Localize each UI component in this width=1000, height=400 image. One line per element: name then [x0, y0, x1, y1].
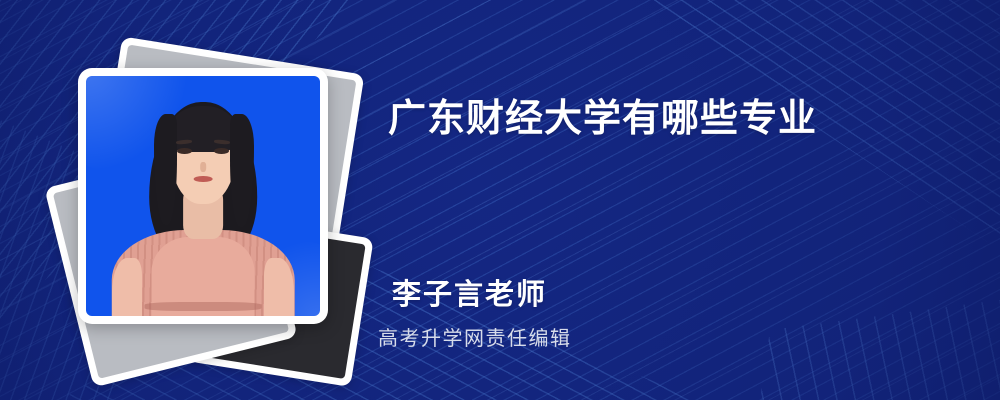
portrait-hair-strand-left [154, 114, 177, 224]
photo-card-stack [48, 40, 378, 360]
banner-text-column: 广东财经大学有哪些专业 李子言老师 高考升学网责任编辑 [382, 0, 962, 400]
author-name: 李子言老师 [392, 271, 547, 313]
portrait-arm-left [112, 258, 142, 316]
portrait-nose [200, 162, 206, 172]
article-header-banner: 广东财经大学有哪些专业 李子言老师 高考升学网责任编辑 [0, 0, 1000, 400]
page-title: 广东财经大学有哪些专业 [388, 96, 817, 142]
photo-card-front [78, 68, 328, 324]
portrait-belt [145, 302, 262, 312]
portrait-eye-right [214, 148, 229, 154]
portrait-figure [86, 76, 320, 316]
author-portrait-photo [86, 76, 320, 316]
author-role: 高考升学网责任编辑 [378, 322, 572, 351]
portrait-eye-left [177, 148, 192, 154]
